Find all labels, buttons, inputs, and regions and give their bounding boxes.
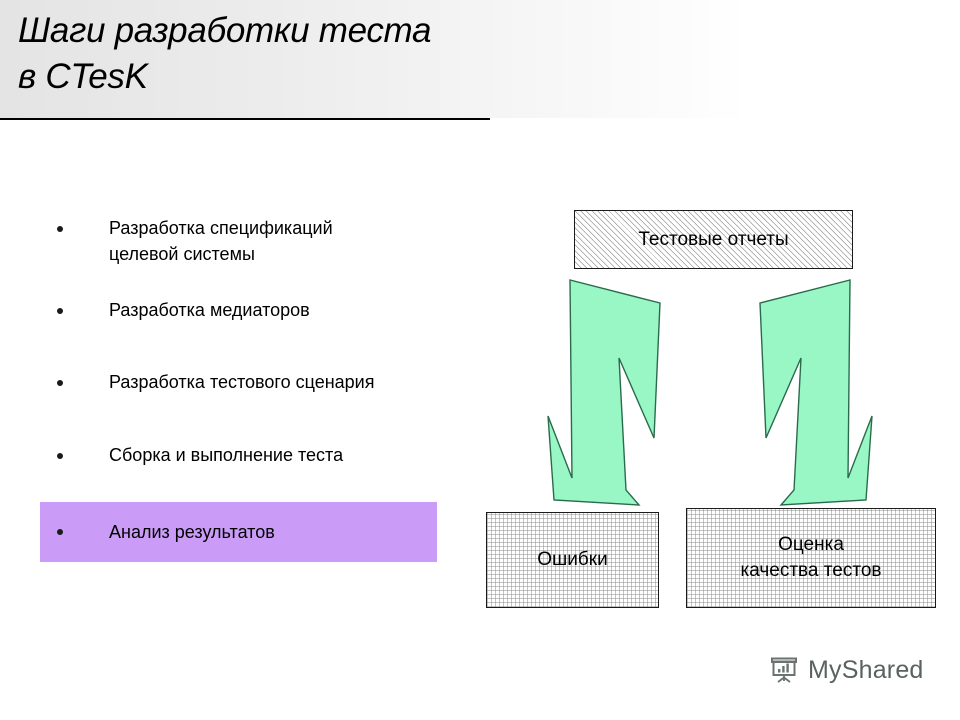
flow-box-label: Оценка качества тестов	[741, 532, 882, 583]
list-item-highlighted[interactable]: Анализ результатов	[40, 502, 437, 562]
list-item[interactable]: Разработка медиаторов	[40, 297, 440, 369]
bullet-dot-icon	[57, 529, 63, 535]
arrow-down-right-icon[interactable]	[740, 272, 930, 512]
title-divider	[0, 118, 490, 120]
list-item-label: Анализ результатов	[62, 519, 275, 545]
list-item-label: Сборка и выполнение теста	[62, 442, 343, 468]
list-item-label: Разработка медиаторов	[62, 297, 310, 323]
arrow-down-left-icon[interactable]	[530, 272, 720, 512]
bullet-dot-icon	[57, 226, 63, 232]
list-item[interactable]: Сборка и выполнение теста	[40, 442, 440, 502]
presentation-chart-icon	[770, 655, 800, 685]
title-band: Шаги разработки теста в CTesK	[0, 0, 960, 118]
slide-canvas: Шаги разработки теста в CTesK Разработка…	[0, 0, 960, 720]
bullet-dot-icon	[57, 380, 63, 386]
flow-box-label: Тестовые отчеты	[638, 229, 788, 251]
list-item[interactable]: Разработка спецификаций целевой системы	[40, 215, 440, 297]
page-title: Шаги разработки теста в CTesK	[18, 8, 718, 100]
flow-box-test-quality[interactable]: Оценка качества тестов	[686, 508, 936, 608]
bullet-dot-icon	[57, 453, 63, 459]
list-item-label: Разработка спецификаций целевой системы	[62, 215, 333, 267]
flow-box-label: Ошибки	[537, 549, 607, 571]
bullet-list: Разработка спецификаций целевой системы …	[40, 215, 440, 562]
list-item[interactable]: Разработка тестового сценария	[40, 369, 440, 442]
bullet-dot-icon	[57, 308, 63, 314]
myshared-label: MyShared	[808, 656, 924, 685]
flow-box-errors[interactable]: Ошибки	[486, 512, 659, 608]
flow-box-test-reports[interactable]: Тестовые отчеты	[574, 210, 853, 269]
myshared-watermark: MyShared	[770, 655, 924, 685]
list-item-label: Разработка тестового сценария	[62, 369, 374, 395]
